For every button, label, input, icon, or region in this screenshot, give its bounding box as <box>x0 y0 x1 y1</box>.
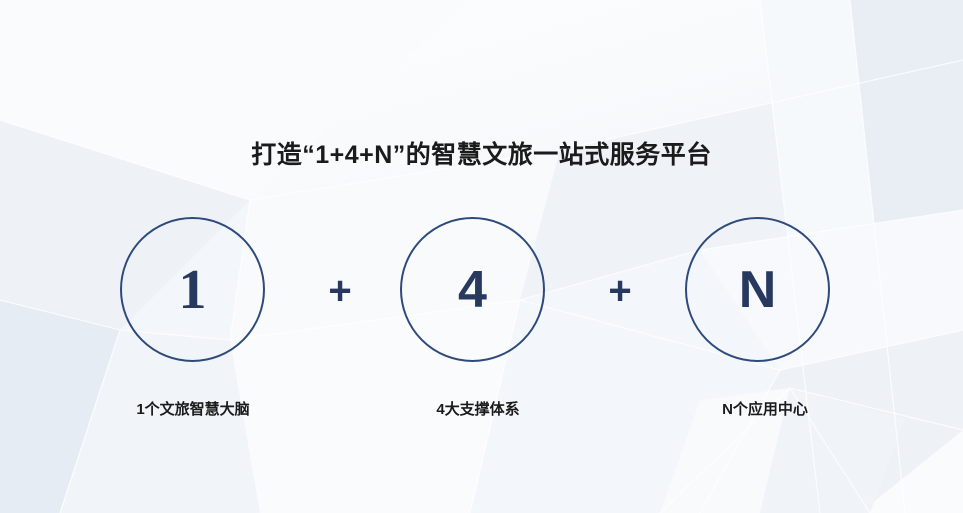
node-caption-4: 4大支撑体系 <box>358 398 598 419</box>
circle-node-n: N <box>685 217 830 362</box>
slide-canvas: 打造“1+4+N”的智慧文旅一站式服务平台 1 + 4 + N 1个文旅智慧大脑… <box>0 0 963 513</box>
circle-node-4: 4 <box>400 217 545 362</box>
node-caption-n: N个应用中心 <box>645 398 885 419</box>
plus-operator-2: + <box>597 268 643 314</box>
slide-content: 打造“1+4+N”的智慧文旅一站式服务平台 1 + 4 + N 1个文旅智慧大脑… <box>0 0 963 513</box>
page-title: 打造“1+4+N”的智慧文旅一站式服务平台 <box>0 135 963 171</box>
circle-glyph-4: 4 <box>402 219 543 360</box>
circle-glyph-1: 1 <box>122 219 263 360</box>
node-caption-1: 1个文旅智慧大脑 <box>73 398 313 419</box>
circle-glyph-n: N <box>687 219 828 360</box>
circle-node-1: 1 <box>120 217 265 362</box>
plus-operator-1: + <box>317 268 363 314</box>
